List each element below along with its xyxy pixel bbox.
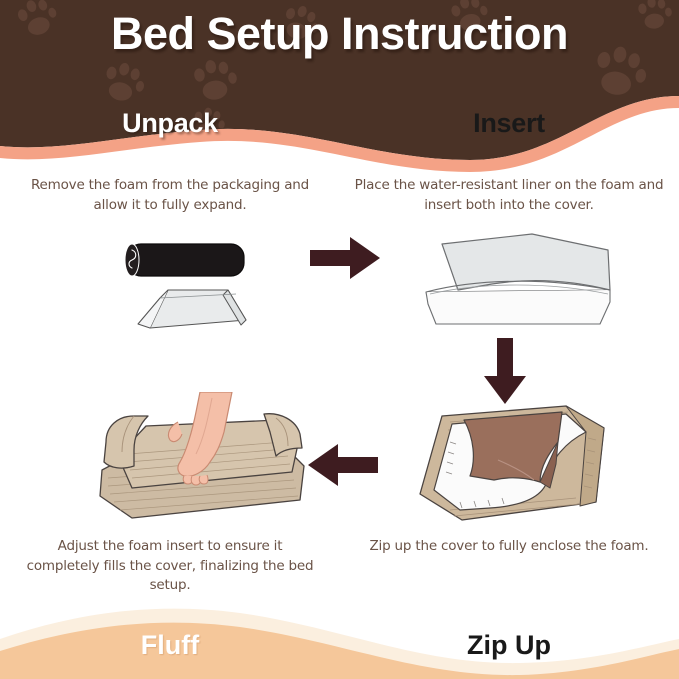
water-resistant-liner-icon xyxy=(426,234,610,294)
arrow-right-icon xyxy=(310,235,380,281)
header-banner: Bed Setup Instruction xyxy=(0,0,679,175)
illustration-cushion-with-liner xyxy=(420,228,616,340)
step-label-zip-up: Zip Up xyxy=(339,630,679,661)
caption-unpack: Remove the foam from the packaging and a… xyxy=(12,176,328,215)
cushion-base-icon xyxy=(426,290,610,324)
illustration-bed-being-zipped xyxy=(390,398,630,528)
caption-zip-up: Zip up the cover to fully enclose the fo… xyxy=(351,537,667,557)
footer-banner: Fluff Zip Up xyxy=(0,593,679,679)
illustration-rolled-foam xyxy=(110,232,280,342)
brown-foam-cushion-icon xyxy=(464,412,562,488)
step-label-unpack: Unpack xyxy=(0,108,340,139)
step-label-insert: Insert xyxy=(339,108,679,139)
flat-liner-sheet-icon xyxy=(138,290,246,328)
caption-fluff: Adjust the foam insert to ensure it comp… xyxy=(20,537,320,596)
infographic-page: Bed Setup Instruction Unpack Insert Remo… xyxy=(0,0,679,679)
rolled-foam-icon xyxy=(125,244,244,276)
step-label-fluff: Fluff xyxy=(0,630,340,661)
illustration-hand-fluffing-bed xyxy=(92,392,344,532)
page-title: Bed Setup Instruction xyxy=(0,8,679,60)
arrow-down-icon xyxy=(482,338,528,404)
caption-insert: Place the water-resistant liner on the f… xyxy=(351,176,667,215)
